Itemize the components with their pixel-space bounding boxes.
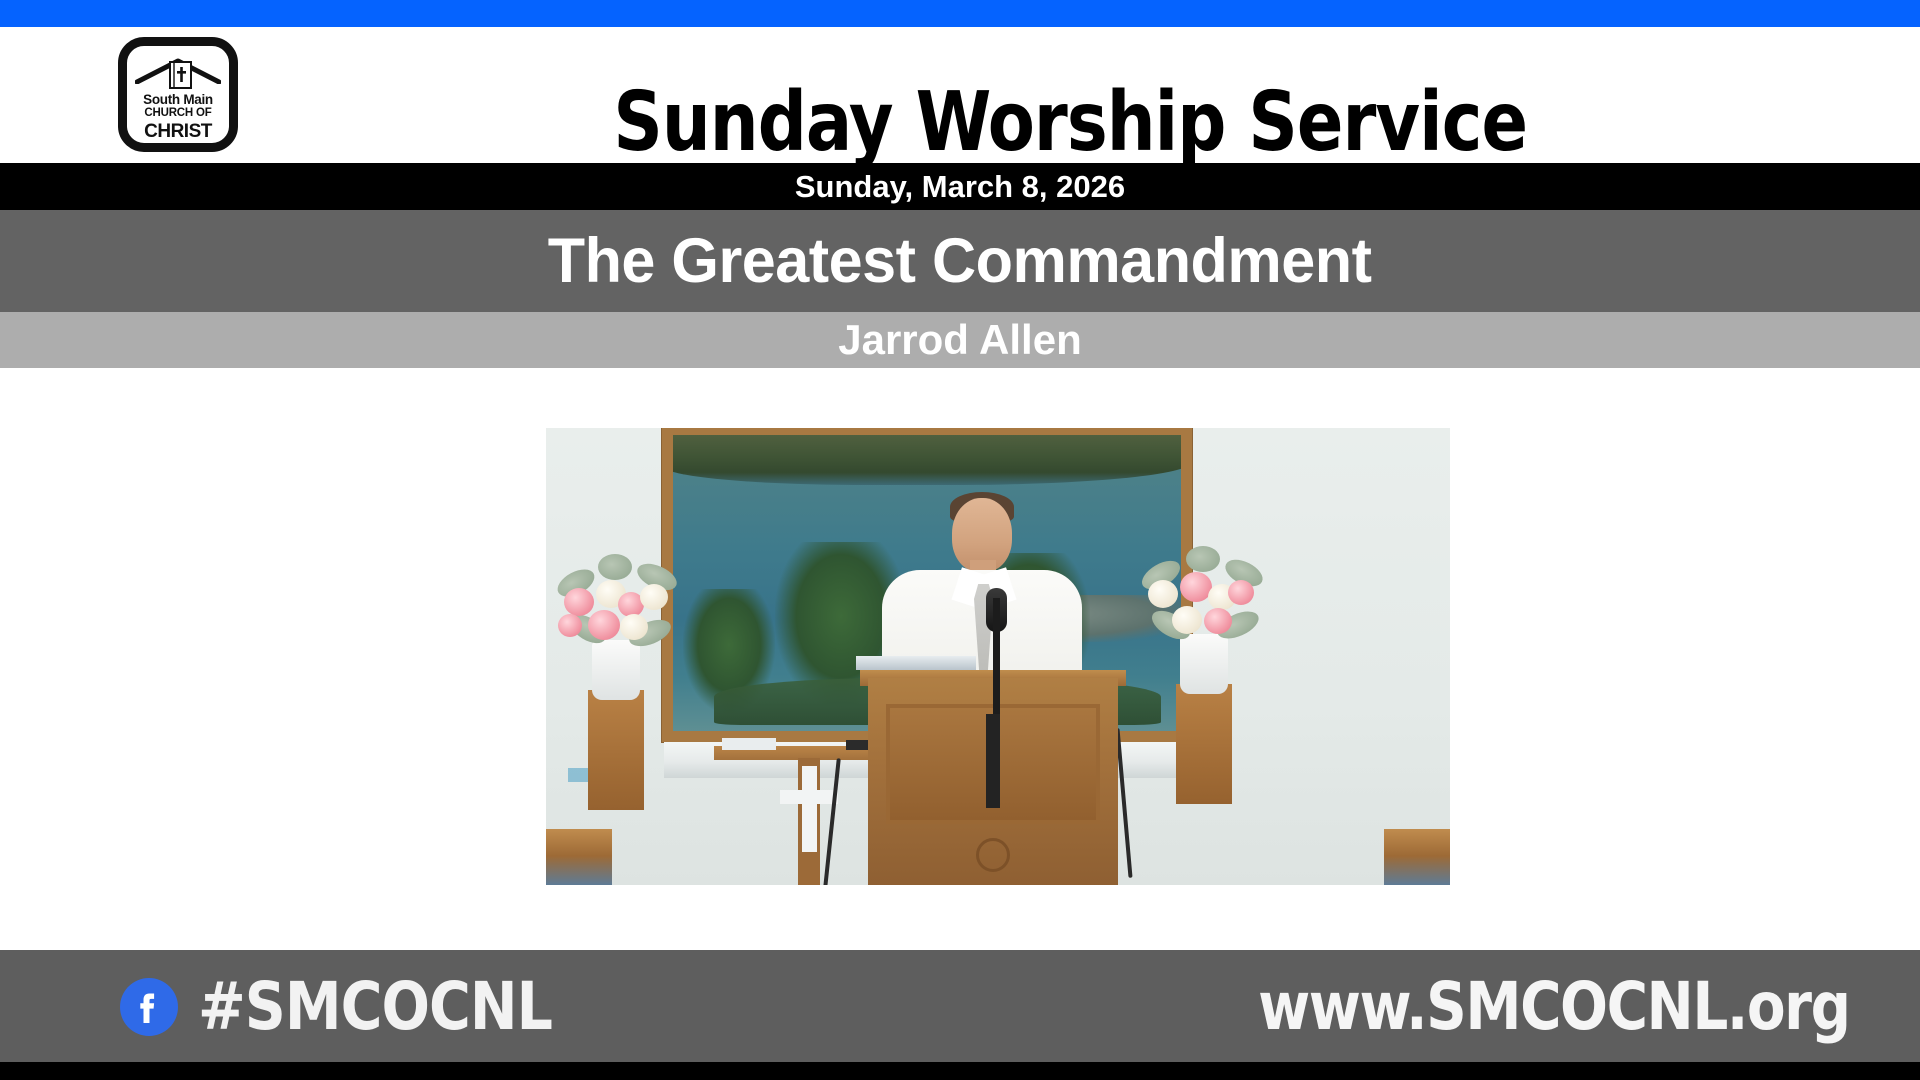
- mural-shoreline: [673, 435, 1181, 485]
- flower-bouquet: [554, 556, 680, 660]
- page-title-text: Sunday Worship Service: [613, 75, 1527, 170]
- sermon-title: The Greatest Commandment: [548, 225, 1372, 297]
- service-date: Sunday, March 8, 2026: [795, 169, 1125, 205]
- pew: [546, 829, 612, 885]
- footer: #SMCOCNL www.SMCOCNL.org: [0, 950, 1920, 1062]
- livestream-slide: South Main CHURCH OF CHRIST Sunday Worsh…: [0, 0, 1920, 1080]
- church-logo: South Main CHURCH OF CHRIST: [118, 37, 238, 152]
- bible-with-cross-icon: [168, 60, 193, 90]
- worship-service-video[interactable]: [546, 428, 1450, 885]
- header: South Main CHURCH OF CHRIST Sunday Worsh…: [0, 27, 1920, 163]
- hashtag: #SMCOCNL: [198, 950, 567, 1062]
- logo-frame: South Main CHURCH OF CHRIST: [118, 37, 238, 152]
- facebook-icon[interactable]: [120, 978, 178, 1036]
- top-accent-bar: [0, 0, 1920, 27]
- logo-line-2: CHURCH OF: [127, 108, 229, 120]
- speaker-name: Jarrod Allen: [838, 316, 1082, 364]
- microphone-stand: [986, 714, 1000, 808]
- video-frame-content: [546, 428, 1450, 885]
- speaker-bar: Jarrod Allen: [0, 312, 1920, 368]
- pew: [1384, 829, 1450, 885]
- logo-line-3: CHRIST: [127, 122, 229, 141]
- date-bar: Sunday, March 8, 2026: [0, 163, 1920, 210]
- sermon-title-bar: The Greatest Commandment: [0, 210, 1920, 312]
- website-url: www.SMCOCNL.org: [1227, 950, 1850, 1062]
- video-area: [0, 368, 1920, 950]
- flower-bouquet: [1140, 550, 1266, 654]
- pulpit-emblem: [976, 838, 1010, 872]
- logo-line-1: South Main: [127, 93, 229, 107]
- open-bible: [856, 656, 976, 670]
- microphone-stem: [993, 598, 1000, 718]
- hashtag-text: #SMCOCNL: [198, 968, 552, 1045]
- website-text: www.SMCOCNL.org: [1259, 968, 1850, 1045]
- table-item: [722, 738, 776, 750]
- bottom-black-bar: [0, 1062, 1920, 1080]
- pedestal: [1176, 684, 1232, 804]
- pedestal: [588, 690, 644, 810]
